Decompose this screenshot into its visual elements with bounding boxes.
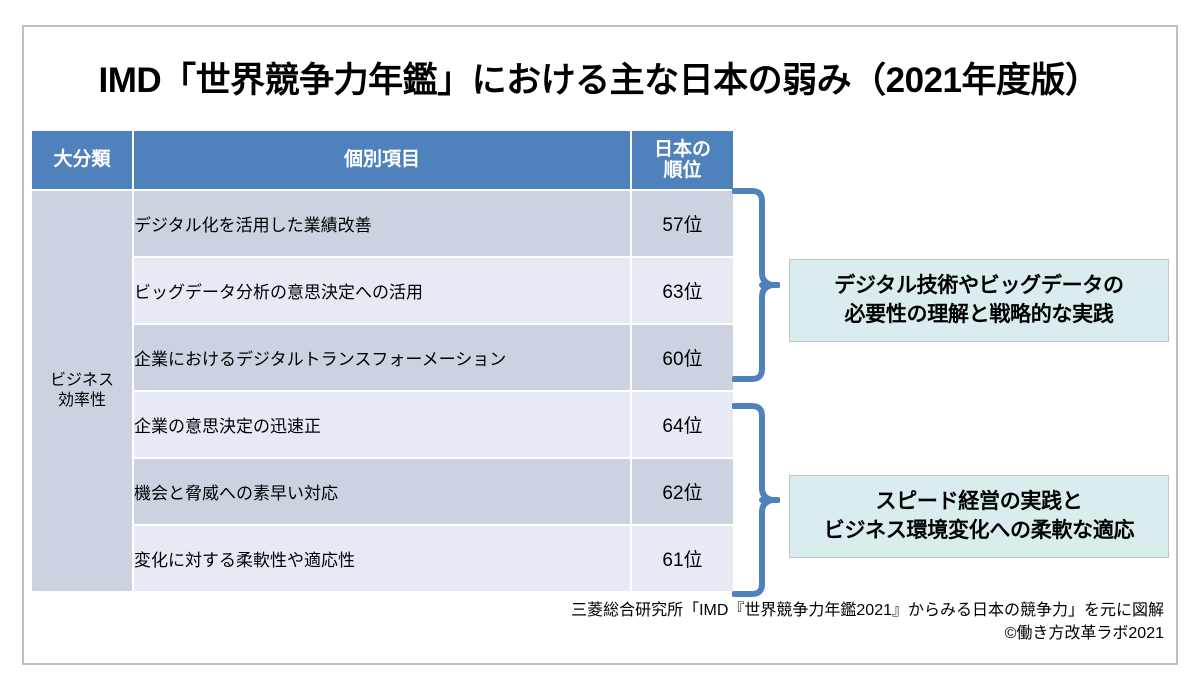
column-header-category: 大分類 xyxy=(32,131,132,189)
item-cell: デジタル化を活用した業績改善 xyxy=(134,191,630,256)
table-row: 機会と脅威への素早い対応 62位 xyxy=(32,459,733,524)
weakness-table: 大分類 個別項目 日本の 順位 ビジネス 効率性 デジタル化を活用した業績改善 … xyxy=(30,129,735,593)
callout-speed-line2: ビジネス環境変化への柔軟な適応 xyxy=(824,519,1135,542)
slide-canvas: IMD「世界競争力年鑑」における主な日本の弱み（2021年度版） 大分類 個別項… xyxy=(22,25,1178,665)
table-row: ビッグデータ分析の意思決定への活用 63位 xyxy=(32,258,733,323)
page-title: IMD「世界競争力年鑑」における主な日本の弱み（2021年度版） xyxy=(54,52,1144,103)
callout-speed-management: スピード経営の実践と ビジネス環境変化への柔軟な適応 xyxy=(789,475,1169,558)
rank-cell: 64位 xyxy=(632,392,733,457)
column-header-rank-line2: 順位 xyxy=(663,160,701,181)
table-row: 企業におけるデジタルトランスフォーメーション 60位 xyxy=(32,325,733,390)
callout-digital-strategy-text: デジタル技術やビッグデータの 必要性の理解と戦略的な実践 xyxy=(834,272,1123,329)
rank-cell: 60位 xyxy=(632,325,733,390)
callout-digital-line1: デジタル技術やビッグデータの xyxy=(834,274,1123,297)
table-head: 大分類 個別項目 日本の 順位 xyxy=(32,131,733,189)
rank-cell: 61位 xyxy=(632,526,733,591)
column-header-item: 個別項目 xyxy=(134,131,630,189)
table-header-row: 大分類 個別項目 日本の 順位 xyxy=(32,131,733,189)
category-label-line2: 効率性 xyxy=(58,392,106,409)
table-row: 企業の意思決定の迅速正 64位 xyxy=(32,392,733,457)
source-line-1: 三菱総合研究所「IMD『世界競争力年鑑2021』からみる日本の競争力」を元に図解 xyxy=(384,599,1164,622)
table-row: 変化に対する柔軟性や適応性 61位 xyxy=(32,526,733,591)
item-cell: 企業におけるデジタルトランスフォーメーション xyxy=(134,325,630,390)
rank-cell: 57位 xyxy=(632,191,733,256)
column-header-rank-line1: 日本の xyxy=(654,139,711,160)
bracket-group-digital xyxy=(732,187,780,383)
table-row: ビジネス 効率性 デジタル化を活用した業績改善 57位 xyxy=(32,191,733,256)
callout-digital-strategy: デジタル技術やビッグデータの 必要性の理解と戦略的な実践 xyxy=(789,259,1169,342)
item-cell: 変化に対する柔軟性や適応性 xyxy=(134,526,630,591)
bracket-speed-icon xyxy=(732,402,780,598)
column-header-rank: 日本の 順位 xyxy=(632,131,733,189)
callout-speed-management-text: スピード経営の実践と ビジネス環境変化への柔軟な適応 xyxy=(824,488,1135,545)
rank-cell: 62位 xyxy=(632,459,733,524)
category-label-line1: ビジネス xyxy=(50,372,114,389)
bracket-digital-icon xyxy=(732,187,780,383)
item-cell: 企業の意思決定の迅速正 xyxy=(134,392,630,457)
callout-digital-line2: 必要性の理解と戦略的な実践 xyxy=(844,303,1113,326)
category-cell-business-efficiency: ビジネス 効率性 xyxy=(32,191,132,591)
bracket-group-speed xyxy=(732,402,780,598)
source-line-2: ©働き方改革ラボ2021 xyxy=(384,622,1164,645)
table-body: ビジネス 効率性 デジタル化を活用した業績改善 57位 ビッグデータ分析の意思決… xyxy=(32,191,733,591)
source-footer: 三菱総合研究所「IMD『世界競争力年鑑2021』からみる日本の競争力」を元に図解… xyxy=(384,599,1164,645)
item-cell: ビッグデータ分析の意思決定への活用 xyxy=(134,258,630,323)
item-cell: 機会と脅威への素早い対応 xyxy=(134,459,630,524)
callout-speed-line1: スピード経営の実践と xyxy=(876,490,1083,513)
rank-cell: 63位 xyxy=(632,258,733,323)
